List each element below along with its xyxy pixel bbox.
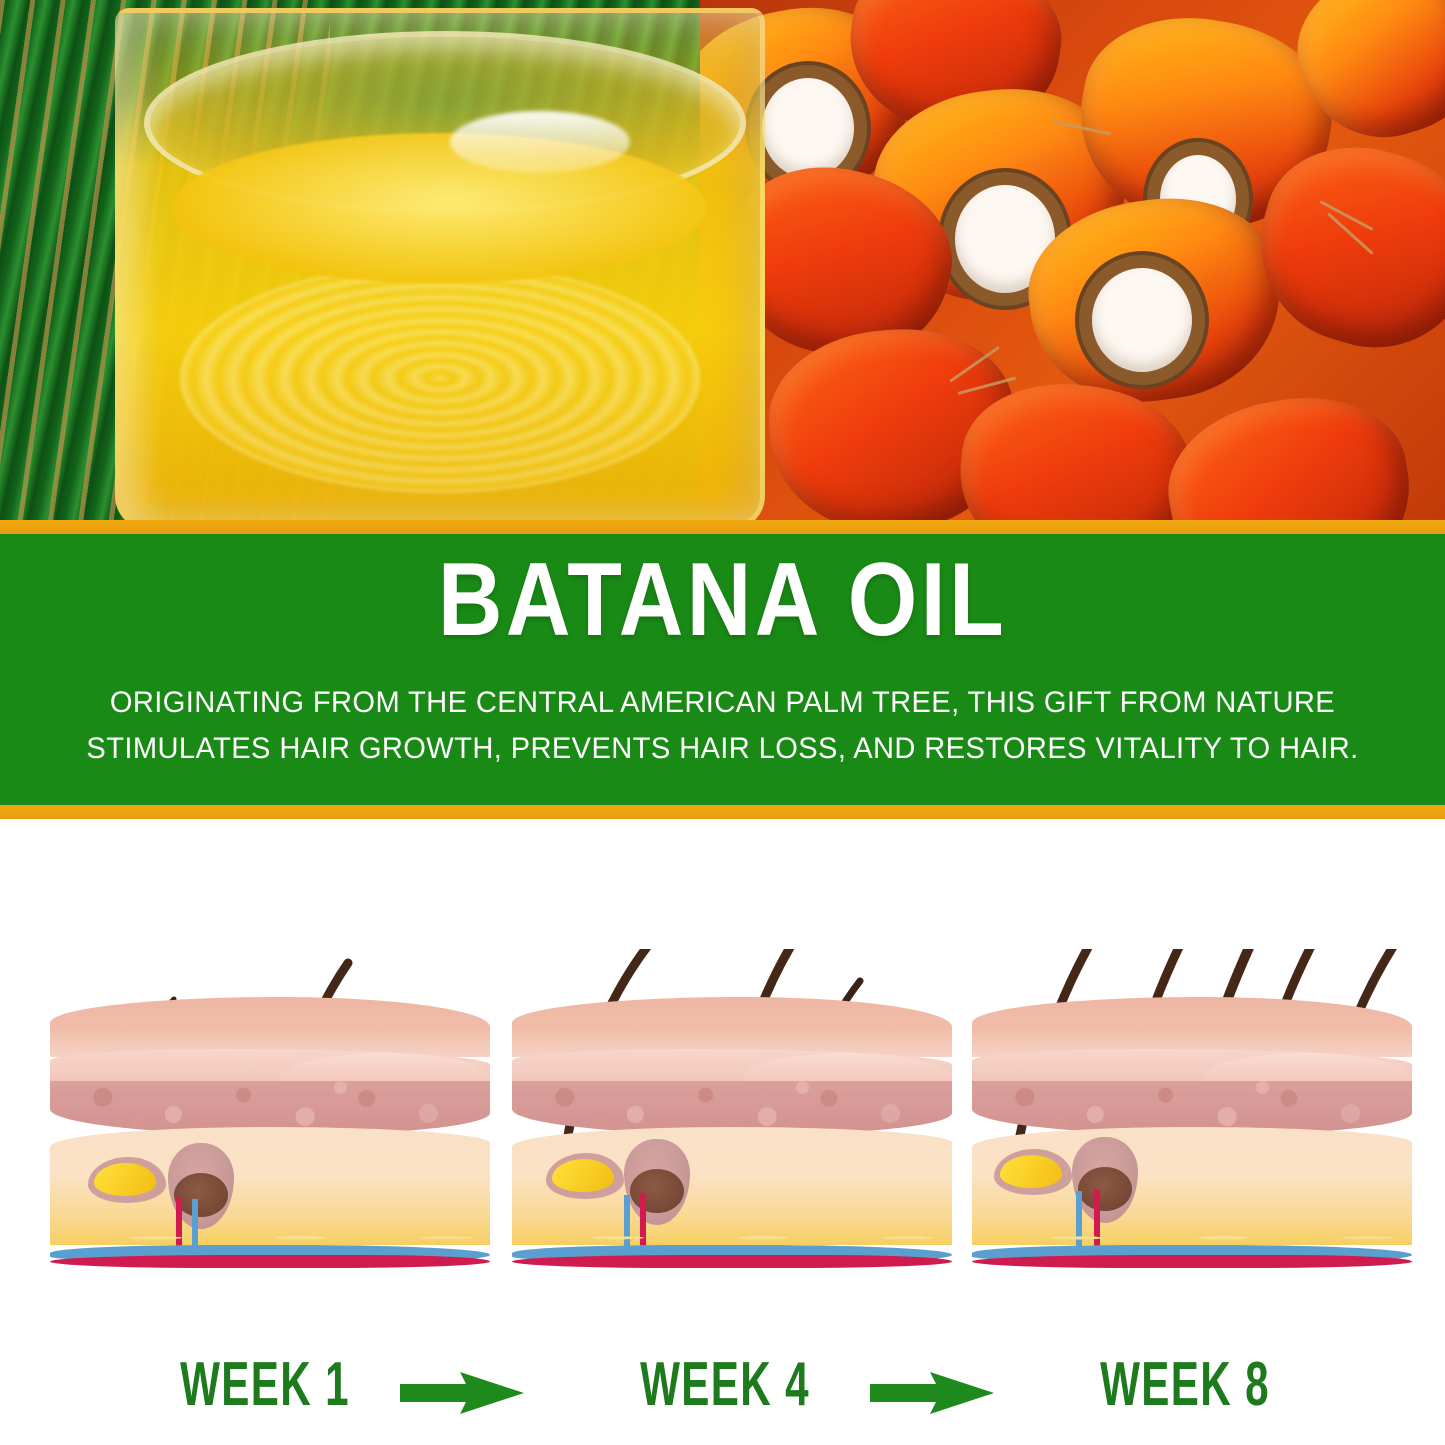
glass-highlight <box>450 111 630 173</box>
hero-photo <box>0 0 1445 520</box>
oil-glass <box>115 8 765 520</box>
skin-cross-section <box>972 997 1412 1279</box>
accent-bar-top <box>0 520 1445 534</box>
page-title: BATANA OIL <box>101 548 1344 652</box>
product-infographic: BATANA OIL ORIGINATING FROM THE CENTRAL … <box>0 0 1445 1445</box>
oil-swirl <box>180 263 700 493</box>
palm-fruit-cluster <box>700 0 1445 520</box>
artery <box>972 1255 1412 1268</box>
hair-bulb <box>174 1173 228 1217</box>
sebaceous-gland <box>994 1149 1072 1195</box>
subtitle-line-2: STIMULATES HAIR GROWTH, PREVENTS HAIR LO… <box>80 726 1365 772</box>
skin-cross-section <box>50 997 490 1279</box>
banner-subtitle: ORIGINATING FROM THE CENTRAL AMERICAN PA… <box>80 680 1365 772</box>
artery <box>512 1255 952 1268</box>
scalp-diagram-week-4 <box>512 949 952 1279</box>
skin-cross-section <box>512 997 952 1279</box>
oil-surface <box>172 133 706 283</box>
hair-bulb <box>1078 1167 1132 1211</box>
sebaceous-gland <box>88 1157 166 1203</box>
sebaceous-gland <box>546 1153 624 1199</box>
scalp-diagram-week-1 <box>50 949 490 1279</box>
subtitle-line-1: ORIGINATING FROM THE CENTRAL AMERICAN PA… <box>80 680 1365 726</box>
artery <box>50 1255 490 1268</box>
arrow-right-icon <box>400 1370 526 1416</box>
accent-bar-bottom <box>0 805 1445 819</box>
epidermis-layer <box>512 997 952 1057</box>
epidermis-layer <box>50 997 490 1057</box>
scalp-diagram-week-8 <box>972 949 1412 1279</box>
progression-labels: WEEK 1 WEEK 4 WEEK 8 <box>0 1352 1445 1432</box>
progression-panels <box>0 819 1445 1339</box>
week-label-1: WEEK 1 <box>170 1352 360 1418</box>
epidermis-layer <box>972 997 1412 1057</box>
week-label-2: WEEK 4 <box>630 1352 820 1418</box>
arrow-right-icon <box>870 1370 996 1416</box>
week-label-3: WEEK 8 <box>1090 1352 1280 1418</box>
hair-bulb <box>630 1169 684 1213</box>
